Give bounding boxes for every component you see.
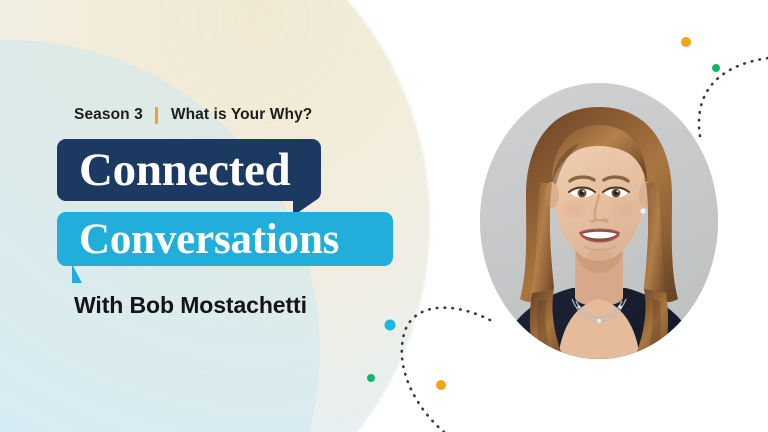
title-bubble-secondary: Conversations (57, 212, 393, 266)
vertical-bar-divider-icon (155, 107, 158, 124)
orange-dot-top (681, 37, 691, 47)
orange-dot-bottom (436, 380, 446, 390)
guest-portrait-illustration (480, 83, 718, 359)
season-label: Season 3 (74, 106, 143, 124)
title-bubble-primary: Connected (57, 139, 321, 201)
guest-portrait-avatar (480, 83, 718, 359)
dotted-arc-bottom-center (402, 308, 490, 432)
dotted-arc-top-right (699, 58, 768, 136)
green-dot-top (712, 64, 720, 72)
episode-title: What is Your Why? (171, 106, 313, 124)
speech-bubble-tail-cyan-icon (72, 264, 102, 283)
title-card: Season 3 What is Your Why? Connected Con… (0, 0, 768, 432)
episode-eyebrow: Season 3 What is Your Why? (74, 106, 312, 124)
show-title-line-2: Conversations (79, 215, 339, 264)
host-byline: With Bob Mostachetti (74, 292, 307, 319)
show-title-line-1: Connected (79, 143, 290, 197)
